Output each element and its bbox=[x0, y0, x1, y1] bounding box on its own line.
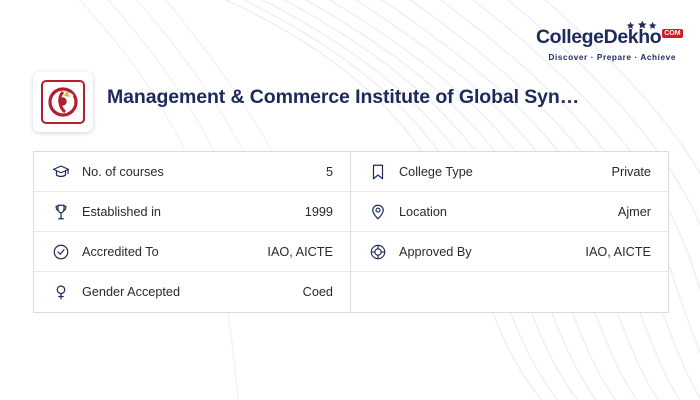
graduation-cap-icon bbox=[50, 161, 72, 183]
card-header: Management & Commerce Institute of Globa… bbox=[0, 0, 700, 145]
college-info-card: Management & Commerce Institute of Globa… bbox=[0, 0, 700, 400]
check-circle-icon bbox=[50, 241, 72, 263]
table-row-spacer bbox=[351, 272, 668, 312]
table-row: Accredited To IAO, AICTE bbox=[34, 232, 350, 272]
info-column-left: No. of courses 5 Established in 1999 bbox=[34, 152, 351, 312]
table-row: College Type Private bbox=[351, 152, 668, 192]
row-label: Accredited To bbox=[82, 245, 267, 259]
table-row: Established in 1999 bbox=[34, 192, 350, 232]
table-row: No. of courses 5 bbox=[34, 152, 350, 192]
row-value: IAO, AICTE bbox=[267, 245, 333, 259]
row-value: Coed bbox=[303, 285, 333, 299]
row-value: 1999 bbox=[305, 205, 333, 219]
college-logo bbox=[33, 72, 93, 132]
gender-icon bbox=[50, 281, 72, 303]
page-title: Management & Commerce Institute of Globa… bbox=[107, 86, 627, 109]
trophy-icon bbox=[50, 201, 72, 223]
college-logo-glyph bbox=[46, 85, 80, 119]
row-value: 5 bbox=[326, 165, 333, 179]
row-value: Private bbox=[612, 165, 652, 179]
row-label: Location bbox=[399, 205, 618, 219]
row-label: College Type bbox=[399, 165, 612, 179]
brand-name-college: College bbox=[536, 26, 604, 48]
row-value: IAO, AICTE bbox=[585, 245, 651, 259]
row-label: No. of courses bbox=[82, 165, 326, 179]
row-label: Gender Accepted bbox=[82, 285, 303, 299]
info-column-right: College Type Private Location Ajmer bbox=[351, 152, 668, 312]
row-label: Established in bbox=[82, 205, 305, 219]
stars-icon bbox=[622, 19, 662, 31]
bookmark-icon bbox=[367, 161, 389, 183]
table-row: Location Ajmer bbox=[351, 192, 668, 232]
brand-superscript: COM bbox=[662, 29, 682, 38]
approved-badge-icon bbox=[367, 241, 389, 263]
table-row: Gender Accepted Coed bbox=[34, 272, 350, 312]
row-label: Approved By bbox=[399, 245, 585, 259]
brand-logo: CollegeDekhoCOM Discover · Prepare · Ach… bbox=[536, 28, 676, 62]
table-row: Approved By IAO, AICTE bbox=[351, 232, 668, 272]
college-logo-mark bbox=[41, 80, 85, 124]
row-value: Ajmer bbox=[618, 205, 651, 219]
location-pin-icon bbox=[367, 201, 389, 223]
brand-tagline: Discover · Prepare · Achieve bbox=[536, 53, 676, 62]
info-table: No. of courses 5 Established in 1999 bbox=[33, 151, 669, 313]
